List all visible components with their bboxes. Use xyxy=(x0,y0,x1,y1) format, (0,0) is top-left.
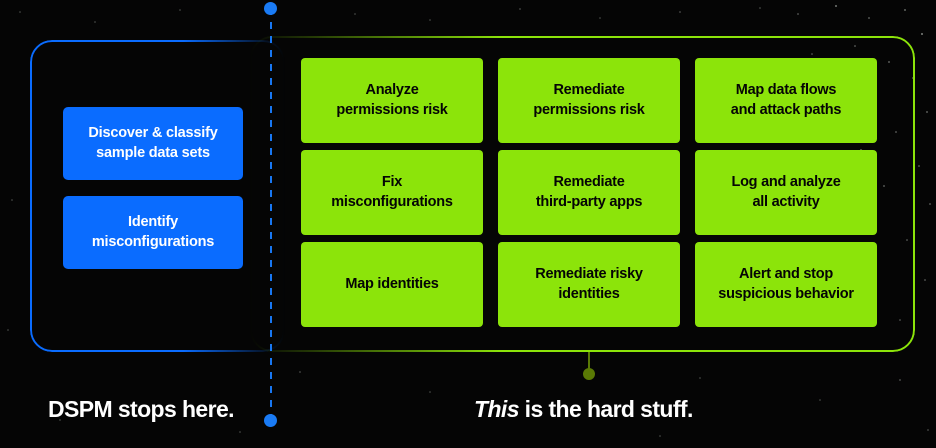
card-line-1: Remediate xyxy=(553,174,624,190)
star-speck-icon xyxy=(926,111,928,113)
list-item[interactable]: Analyze permissions risk xyxy=(301,58,483,143)
card-line-2: misconfigurations xyxy=(331,194,452,210)
star-speck-icon xyxy=(927,429,929,431)
card-line-2: permissions risk xyxy=(336,102,447,118)
star-speck-icon xyxy=(868,17,870,19)
card-line-2: suspicious behavior xyxy=(718,286,853,302)
divider-dot-top-icon xyxy=(264,2,277,15)
star-speck-icon xyxy=(11,199,13,201)
star-speck-icon xyxy=(659,435,661,437)
star-speck-icon xyxy=(699,377,701,379)
star-speck-icon xyxy=(759,7,761,9)
star-speck-icon xyxy=(797,13,799,15)
star-speck-icon xyxy=(429,391,431,393)
card-line-2: permissions risk xyxy=(533,102,644,118)
star-speck-icon xyxy=(299,371,301,373)
card-line-2: third-party apps xyxy=(536,194,642,210)
list-item[interactable]: Alert and stop suspicious behavior xyxy=(695,242,877,327)
list-item[interactable]: Identify misconfigurations xyxy=(63,196,243,269)
star-speck-icon xyxy=(94,21,96,23)
star-speck-icon xyxy=(7,329,9,331)
star-speck-icon xyxy=(929,203,931,205)
card-line-1: Remediate risky xyxy=(535,266,642,282)
star-speck-icon xyxy=(19,11,21,13)
star-speck-icon xyxy=(179,9,181,11)
list-item[interactable]: Map data flows and attack paths xyxy=(695,58,877,143)
diagram-canvas: Discover & classify sample data sets Ide… xyxy=(0,0,936,448)
card-line-2: misconfigurations xyxy=(92,234,214,250)
card-line-1: Remediate xyxy=(553,82,624,98)
caption-hard-stuff: This is the hard stuff. xyxy=(474,396,693,423)
dspm-card-list: Discover & classify sample data sets Ide… xyxy=(63,107,243,285)
star-speck-icon xyxy=(921,33,924,36)
card-line-1: Map data flows xyxy=(736,82,836,98)
caption-dspm-stops-here: DSPM stops here. xyxy=(48,396,234,423)
star-speck-icon xyxy=(924,279,926,281)
list-item[interactable]: Remediate risky identities xyxy=(498,242,680,327)
list-item[interactable]: Log and analyze all activity xyxy=(695,150,877,235)
list-item[interactable]: Remediate permissions risk xyxy=(498,58,680,143)
dashed-divider-line xyxy=(270,8,272,420)
list-item[interactable]: Map identities xyxy=(301,242,483,327)
card-line-2: and attack paths xyxy=(731,102,841,118)
list-item[interactable]: Discover & classify sample data sets xyxy=(63,107,243,180)
hard-stuff-card-grid: Analyze permissions risk Remediate permi… xyxy=(301,58,877,327)
star-speck-icon xyxy=(354,13,356,15)
caption-emphasis: This xyxy=(474,396,519,422)
list-item[interactable]: Remediate third-party apps xyxy=(498,150,680,235)
star-speck-icon xyxy=(899,379,901,381)
star-speck-icon xyxy=(835,5,837,7)
star-speck-icon xyxy=(819,399,821,401)
card-line-2: all activity xyxy=(752,194,819,210)
star-speck-icon xyxy=(599,17,601,19)
star-speck-icon xyxy=(519,8,521,10)
card-line-2: sample data sets xyxy=(96,145,210,161)
card-line-1: Identify xyxy=(128,214,178,230)
card-line-1: Alert and stop xyxy=(739,266,833,282)
card-line-1: Map identities xyxy=(345,276,438,292)
green-connector-dot-icon xyxy=(583,368,595,380)
star-speck-icon xyxy=(429,19,431,21)
star-speck-icon xyxy=(918,165,920,167)
card-line-1: Analyze xyxy=(365,82,418,98)
card-line-1: Discover & classify xyxy=(88,125,217,141)
star-speck-icon xyxy=(904,9,906,11)
caption-rest: is the hard stuff. xyxy=(519,396,693,422)
card-line-1: Fix xyxy=(382,174,402,190)
star-speck-icon xyxy=(679,11,681,13)
card-line-1: Log and analyze xyxy=(731,174,840,190)
divider-dot-bottom-icon xyxy=(264,414,277,427)
card-line-2: identities xyxy=(558,286,619,302)
star-speck-icon xyxy=(239,431,241,433)
list-item[interactable]: Fix misconfigurations xyxy=(301,150,483,235)
